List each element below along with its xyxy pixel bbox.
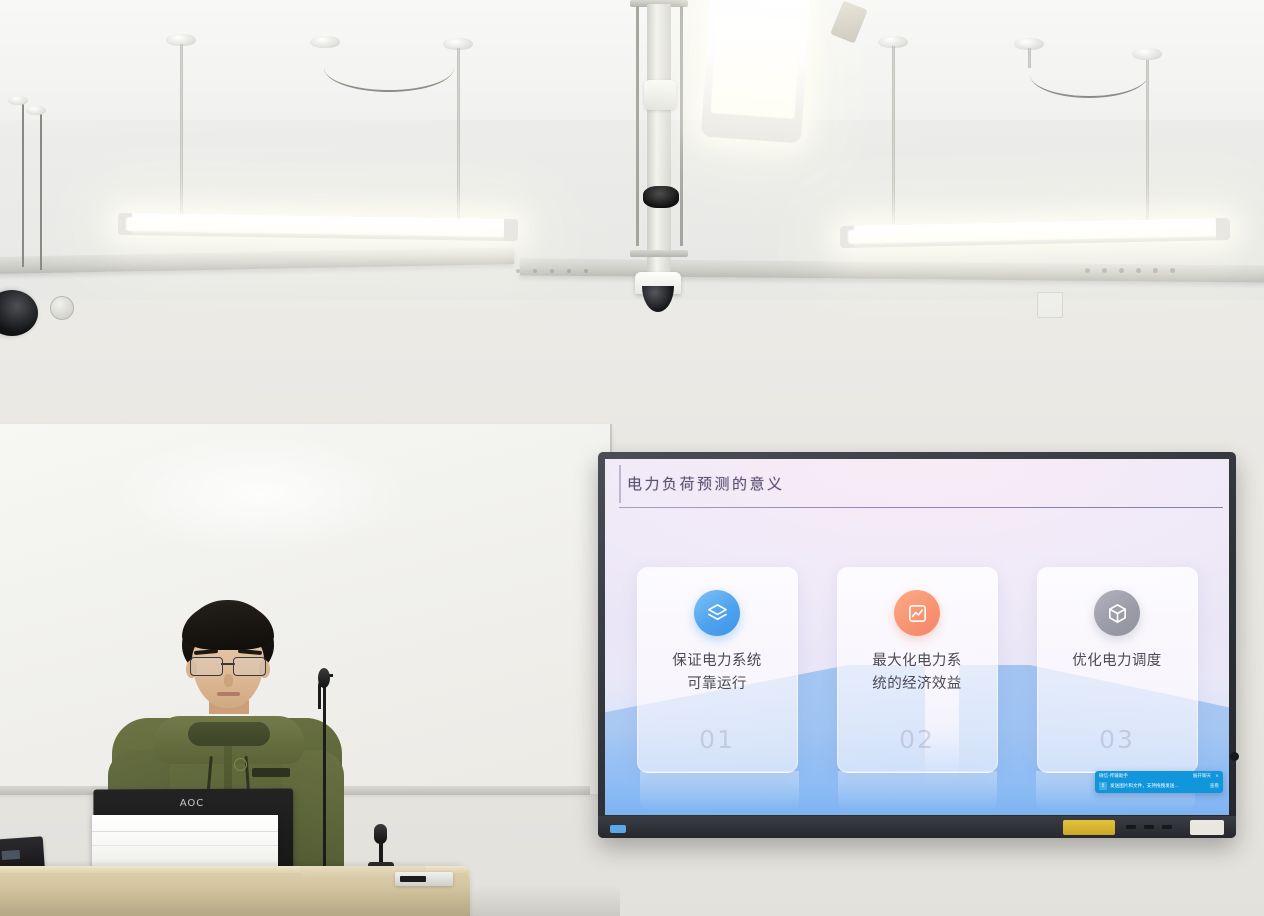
card-text-03: 优化电力调度 [1072,650,1161,673]
thin-rod [40,110,42,270]
wall-plate [1037,292,1063,318]
presenter-nose [224,674,233,687]
presenter-fringe [182,602,274,650]
rail-fasteners-center [516,268,588,274]
light-rod [1028,48,1031,68]
slide-card-02: 最大化电力系 统的经济效益 02 [837,567,998,773]
thin-rod [22,102,24,267]
ceiling-cable [1030,52,1148,98]
card-text-02: 最大化电力系 统的经济效益 [872,650,961,697]
card-number-03: 03 [1038,725,1197,754]
toast-header: 微信·传输助手 展开聊天 × [1095,771,1223,780]
presenter-hood-inner [188,722,270,746]
fluorescent-light-center [701,0,811,143]
card-number-02: 02 [838,725,997,754]
light-rod [1146,56,1149,232]
presenter-jacket-button [234,758,247,771]
remote-control[interactable] [395,872,453,886]
display-buttons[interactable] [1126,825,1172,830]
card-text-02-line2: 统的经济效益 [872,673,961,696]
glasses-icon [188,657,268,674]
slide-card-03: 优化电力调度 03 [1037,567,1198,773]
presentation-slide: 电力负荷预测的意义 保 [605,459,1229,815]
cube-3d-icon [1094,590,1140,636]
rod-cap [26,106,46,115]
projector-body [644,80,676,110]
monitor-brand-label: AOC [93,798,293,810]
light-rod [180,44,183,220]
presenter-jacket-label [252,768,290,777]
toast-expand-link[interactable]: 展开聊天 [1193,773,1211,779]
slide-title-bar: 电力负荷预测的意义 [605,459,1229,509]
slide-title: 电力负荷预测的意义 [627,473,785,494]
ceiling-speaker [50,296,74,320]
floor-shadow [0,886,620,916]
light-rod [892,46,895,224]
card-number-01: 01 [638,725,797,754]
paper-stack [92,815,278,873]
card-text-01: 保证电力系统 可靠运行 [672,650,761,697]
display-side-knob [1230,752,1239,761]
gooseneck-microphone [316,668,336,870]
rail-fasteners-right [1085,266,1175,274]
rod-cap [1132,48,1162,60]
card-text-02-line1: 最大化电力系 [872,650,961,673]
title-accent-mark [619,465,621,503]
ceiling-cable [324,44,454,92]
close-icon[interactable]: × [1215,774,1219,779]
card-text-03-line1: 优化电力调度 [1072,650,1161,673]
toast-title: 微信·传输助手 [1099,773,1128,779]
camera-mount-bracket [630,0,688,290]
slide-card-row: 保证电力系统 可靠运行 01 最大化电力系 [605,567,1229,773]
card-text-01-line2: 可靠运行 [672,673,761,696]
slide-card-01: 保证电力系统 可靠运行 01 [637,567,798,773]
display-sticker-white [1190,820,1224,835]
rod-cap [310,36,340,48]
ceiling-dome-camera [635,272,681,314]
presenter-mouth [217,692,240,696]
rod-cap [8,96,28,105]
card-text-01-line1: 保证电力系统 [672,650,761,673]
notification-toast[interactable]: 微信·传输助手 展开聊天 × ↥ 发送图片和文件，支持拖拽发送… 查看 [1095,771,1223,793]
interactive-flat-panel-display[interactable]: 电力负荷预测的意义 保 [598,452,1236,838]
camera-lens [643,186,679,208]
toast-message: 发送图片和文件，支持拖拽发送… [1110,783,1207,789]
chart-trend-icon [894,590,940,636]
side-dome-camera [0,290,38,336]
layers-icon [694,590,740,636]
toast-message-row: ↥ 发送图片和文件，支持拖拽发送… 查看 [1095,780,1223,793]
power-led [610,825,626,833]
light-rod [457,48,460,220]
lecture-room-photo: 电力负荷预测的意义 保 [0,0,1264,916]
upload-icon: ↥ [1099,782,1107,790]
display-sticker-yellow [1063,820,1115,835]
toast-message-action[interactable]: 查看 [1210,783,1219,789]
title-divider [619,507,1223,508]
display-screen[interactable]: 电力负荷预测的意义 保 [605,459,1229,815]
